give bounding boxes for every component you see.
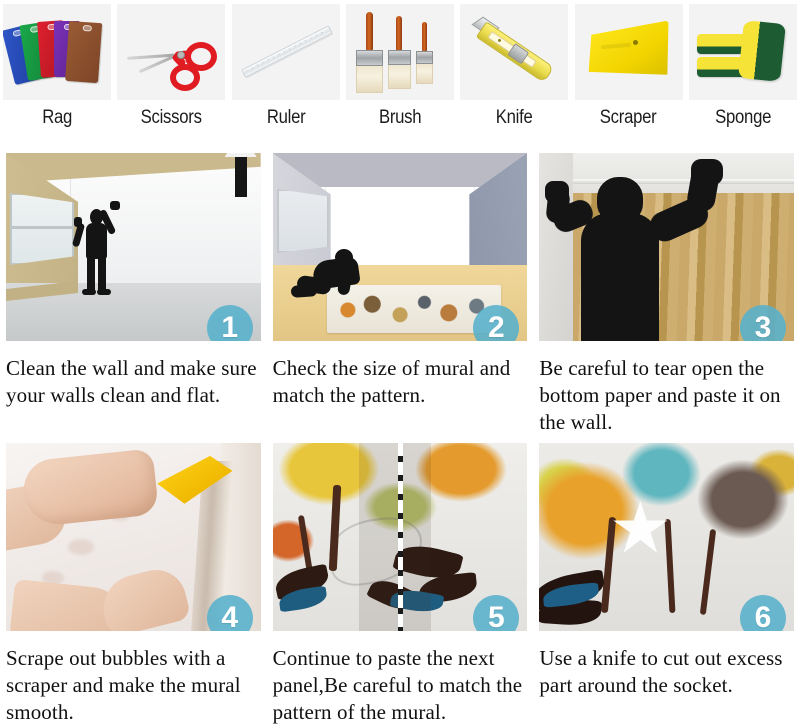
tool-item-brush: Brush [343, 0, 457, 145]
step-card-3: 3 Be careful to tear open the bottom pap… [533, 145, 800, 435]
scraper-icon [575, 4, 683, 100]
step-badge-3: 3 [740, 305, 786, 341]
step-figure-2: 2 [273, 153, 528, 341]
tool-label-knife: Knife [464, 107, 565, 129]
step-badge-1: 1 [207, 305, 253, 341]
step-card-4: 4 Scrape out bubbles with a scraper and … [0, 435, 267, 725]
step-card-1: 1 Clean the wall and make sure your wall… [0, 145, 267, 435]
paint-roller-icon [235, 153, 247, 197]
tool-item-knife: Knife [457, 0, 571, 145]
brush-icon [346, 4, 454, 100]
scissors-icon [117, 4, 225, 100]
step-caption-5: Continue to paste the next panel,Be care… [273, 645, 528, 726]
tool-label-ruler: Ruler [235, 107, 336, 129]
step-figure-5: 5 [273, 443, 528, 631]
tool-label-scissors: Scissors [121, 107, 222, 129]
step-figure-1: 1 [6, 153, 261, 341]
tool-item-scraper: Scraper [571, 0, 685, 145]
sponge-icon [689, 4, 797, 100]
panel-seam-guide [398, 443, 403, 631]
tool-item-sponge: Sponge [686, 0, 800, 145]
step-badge-4: 4 [207, 595, 253, 631]
steps-grid: 1 Clean the wall and make sure your wall… [0, 145, 800, 726]
instruction-infographic: Rag Scissors Ruler [0, 0, 800, 726]
rag-icon [3, 4, 111, 100]
tools-strip: Rag Scissors Ruler [0, 0, 800, 145]
step-caption-4: Scrape out bubbles with a scraper and ma… [6, 645, 261, 726]
tool-label-brush: Brush [350, 107, 451, 129]
socket-cutout-marker [613, 501, 667, 555]
step-caption-3: Be careful to tear open the bottom paper… [539, 355, 794, 436]
step-badge-5: 5 [473, 595, 519, 631]
tool-label-rag: Rag [7, 107, 108, 129]
tool-item-ruler: Ruler [229, 0, 343, 145]
step-card-2: 2 Check the size of mural and match the … [267, 145, 534, 435]
tool-item-scissors: Scissors [114, 0, 228, 145]
knife-icon [460, 4, 568, 100]
ruler-icon [232, 4, 340, 100]
tool-item-rag: Rag [0, 0, 114, 145]
step-figure-6: 6 [539, 443, 794, 631]
tool-label-sponge: Sponge [693, 107, 794, 129]
step-card-5: 5 Continue to paste the next panel,Be ca… [267, 435, 534, 725]
hand-lower [96, 564, 191, 631]
step-figure-4: 4 [6, 443, 261, 631]
step-caption-6: Use a knife to cut out excess part aroun… [539, 645, 794, 699]
tool-label-scraper: Scraper [578, 107, 679, 129]
step-card-6: 6 Use a knife to cut out excess part aro… [533, 435, 800, 725]
step-caption-1: Clean the wall and make sure your walls … [6, 355, 261, 409]
step-figure-3: 3 [539, 153, 794, 341]
hand-upper [21, 448, 159, 527]
step-badge-6: 6 [740, 595, 786, 631]
step-caption-2: Check the size of mural and match the pa… [273, 355, 528, 409]
